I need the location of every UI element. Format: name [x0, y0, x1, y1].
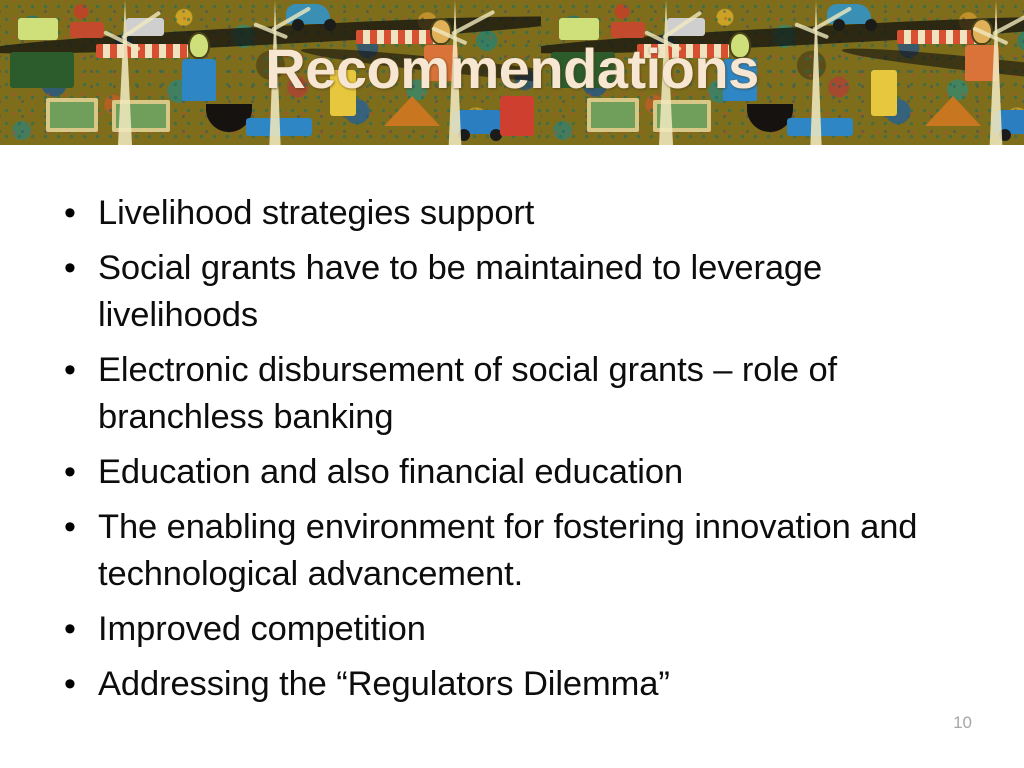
slide-title: Recommendations [0, 40, 1024, 99]
bullet-text: Addressing the “Regulators Dilemma” [98, 661, 976, 708]
bullet-text: Electronic disbursement of social grants… [98, 347, 976, 441]
bullet-item: • Addressing the “Regulators Dilemma” [56, 661, 976, 708]
banner-art-animal [18, 18, 58, 40]
banner-art-animal [70, 22, 104, 38]
slide-header-banner: Recommendations [0, 0, 1024, 145]
banner-art-animal [611, 22, 645, 38]
bullet-text: The enabling environment for fostering i… [98, 504, 976, 598]
bullet-text: Education and also financial education [98, 449, 976, 496]
banner-art-picture-frame [587, 98, 639, 132]
bullet-marker-icon: • [56, 661, 98, 708]
banner-art-hut [384, 96, 440, 126]
bullet-marker-icon: • [56, 606, 98, 653]
bullet-item: • Social grants have to be maintained to… [56, 245, 976, 339]
bullet-text: Livelihood strategies support [98, 190, 976, 237]
bullet-text: Improved competition [98, 606, 976, 653]
bullet-marker-icon: • [56, 347, 98, 394]
bullet-text: Social grants have to be maintained to l… [98, 245, 976, 339]
page-number: 10 [953, 713, 972, 733]
bullet-item: • Improved competition [56, 606, 976, 653]
bullet-marker-icon: • [56, 245, 98, 292]
bullet-marker-icon: • [56, 190, 98, 237]
banner-art-hut [925, 96, 981, 126]
bullet-item: • Livelihood strategies support [56, 190, 976, 237]
bullet-item: • The enabling environment for fostering… [56, 504, 976, 598]
banner-art-picture-frame [46, 98, 98, 132]
bullet-marker-icon: • [56, 449, 98, 496]
bullet-marker-icon: • [56, 504, 98, 551]
bullet-item: • Electronic disbursement of social gran… [56, 347, 976, 441]
banner-art-decor [500, 96, 534, 136]
bullet-item: • Education and also financial education [56, 449, 976, 496]
slide-body-content: • Livelihood strategies support • Social… [56, 190, 976, 716]
